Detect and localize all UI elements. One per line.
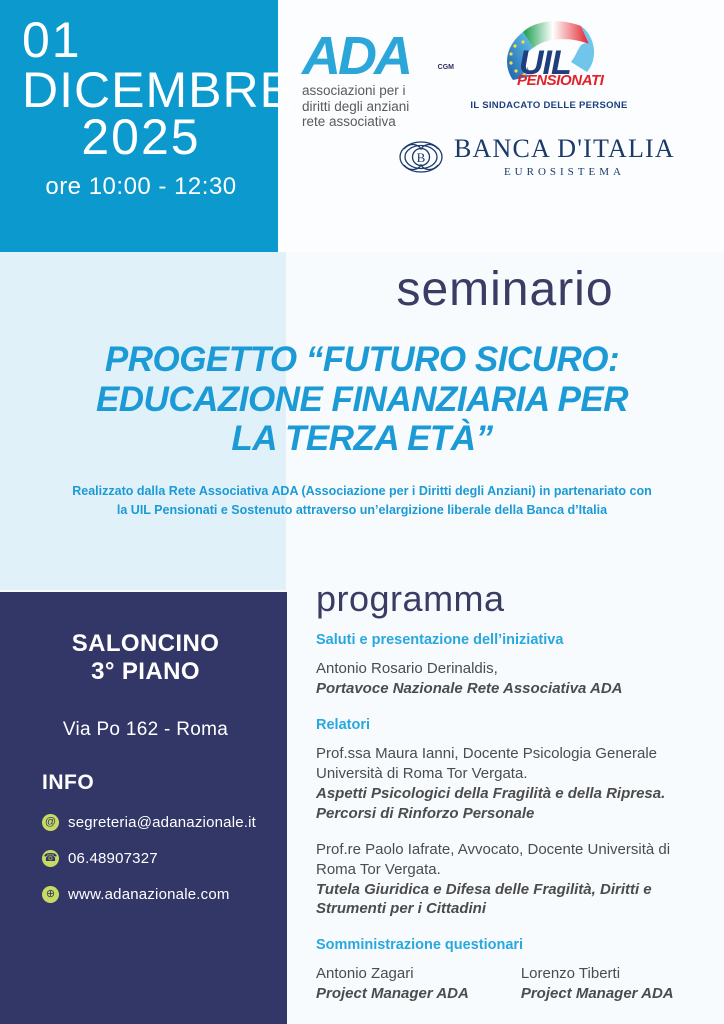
uil-tagline: IL SINDACATO DELLE PERSONE [468, 100, 630, 111]
event-month: DICEMBRE [22, 65, 260, 116]
uil-pensionati-wordmark: PENSIONATI [517, 72, 604, 89]
venue-name: SALONCINO 3° PIANO [20, 630, 271, 687]
programma-section-questionari: Somministrazione questionari Antonio Zag… [316, 937, 708, 1004]
banca-ditalia-subtitle: EUROSISTEMA [454, 167, 675, 178]
page-subtitle-line-2: la UIL Pensionati e Sostenuto attraverso… [18, 501, 706, 520]
banca-ditalia-name: BANCA D'ITALIA [454, 136, 675, 162]
banca-ditalia-crest-icon: B [398, 134, 444, 180]
ada-tagline-line3: rete associativa [302, 115, 458, 129]
page-title-line-2: EDUCAZIONE FINANZIARIA PER [8, 380, 716, 420]
programma-body: Saluti e presentazione dell’iniziativa A… [316, 632, 708, 1022]
speaker-name: Prof.re Paolo Iafrate, Avvocato, Docente… [316, 840, 708, 880]
programma-two-column: Antonio Zagari Project Manager ADA Loren… [316, 964, 708, 1004]
venue-name-line-1: SALONCINO [20, 630, 271, 658]
banca-ditalia-text: BANCA D'ITALIA EUROSISTEMA [454, 136, 675, 178]
speaker-role: Project Manager ADA [316, 984, 469, 1004]
speaker-role: Portavoce Nazionale Rete Associativa ADA [316, 679, 708, 699]
banca-ditalia-logo: B BANCA D'ITALIA EUROSISTEMA [398, 134, 698, 180]
logo-group: ADA CGM associazioni per i diritti degli… [286, 8, 724, 248]
section-heading-relatori: Relatori [316, 717, 708, 733]
globe-icon: ⊕ [42, 886, 59, 903]
phone-icon: ☎ [42, 850, 59, 867]
programma-section-saluti: Saluti e presentazione dell’iniziativa A… [316, 632, 708, 699]
programma-entry: Prof.re Paolo Iafrate, Avvocato, Docente… [316, 840, 708, 920]
seminario-label: seminario [286, 262, 724, 317]
ada-tagline-line1: associazioni per i [302, 84, 458, 98]
contact-email[interactable]: @ segreteria@adanazionale.it [42, 814, 271, 831]
speaker-name: Prof.ssa Maura Ianni, Docente Psicologia… [316, 744, 708, 784]
contact-website-text[interactable]: www.adanazionale.com [68, 886, 230, 903]
speaker-role: Tutela Giuridica e Difesa delle Fragilit… [316, 880, 708, 920]
page-subtitle-line-1: Realizzato dalla Rete Associativa ADA (A… [18, 482, 706, 501]
uil-pensionati-logo: UIL PENSIONATI IL SINDACATO DELLE PERSON… [468, 14, 630, 111]
ada-logo: ADA CGM associazioni per i diritti degli… [302, 30, 458, 129]
info-heading: INFO [42, 771, 271, 795]
date-block: 01 DICEMBRE 2025 ore 10:00 - 12:30 [0, 0, 278, 252]
contact-phone[interactable]: ☎ 06.48907327 [42, 850, 271, 867]
event-year: 2025 [22, 112, 260, 163]
event-day: 01 [22, 14, 260, 67]
venue-name-line-2: 3° PIANO [20, 658, 271, 686]
email-icon: @ [42, 814, 59, 831]
section-heading-questionari: Somministrazione questionari [316, 937, 708, 953]
ada-logo-letters-navy: A [374, 26, 410, 86]
contact-website[interactable]: ⊕ www.adanazionale.com [42, 886, 271, 903]
contact-phone-text[interactable]: 06.48907327 [68, 850, 158, 867]
uil-logo-ring: UIL PENSIONATI [489, 14, 609, 96]
contact-email-text[interactable]: segreteria@adanazionale.it [68, 814, 256, 831]
ada-logo-letters-blue: AD [302, 26, 374, 86]
page-subtitle: Realizzato dalla Rete Associativa ADA (A… [18, 482, 706, 521]
speaker-role: Project Manager ADA [521, 984, 674, 1004]
programma-entry: Antonio Rosario Derinaldis, Portavoce Na… [316, 659, 708, 699]
svg-text:B: B [417, 150, 426, 165]
programma-section-relatori: Relatori Prof.ssa Maura Ianni, Docente P… [316, 717, 708, 920]
venue-info-panel: SALONCINO 3° PIANO Via Po 162 - Roma INF… [0, 592, 287, 1024]
event-poster: 01 DICEMBRE 2025 ore 10:00 - 12:30 ADA C… [0, 0, 724, 1024]
page-title: PROGETTO “FUTURO SICURO: EDUCAZIONE FINA… [8, 340, 716, 459]
ada-logo-superscript: CGM [438, 64, 454, 71]
page-title-line-3: LA TERZA ETÀ” [8, 419, 716, 459]
programma-entry: Prof.ssa Maura Ianni, Docente Psicologia… [316, 744, 708, 824]
speaker-role: Aspetti Psicologici della Fragilità e de… [316, 784, 708, 824]
speaker-name: Lorenzo Tiberti [521, 964, 674, 984]
programma-heading: programma [316, 578, 505, 620]
section-heading-saluti: Saluti e presentazione dell’iniziativa [316, 632, 708, 648]
venue-address: Via Po 162 - Roma [20, 719, 271, 741]
speaker-name: Antonio Rosario Derinaldis, [316, 659, 708, 679]
ada-tagline-line2: diritti degli anziani [302, 100, 458, 114]
programma-entry: Lorenzo Tiberti Project Manager ADA [521, 964, 674, 1004]
ada-logo-mark: ADA CGM [302, 30, 452, 82]
programma-entry: Antonio Zagari Project Manager ADA [316, 964, 469, 1004]
page-title-line-1: PROGETTO “FUTURO SICURO: [8, 340, 716, 380]
event-time: ore 10:00 - 12:30 [22, 173, 260, 201]
speaker-name: Antonio Zagari [316, 964, 469, 984]
